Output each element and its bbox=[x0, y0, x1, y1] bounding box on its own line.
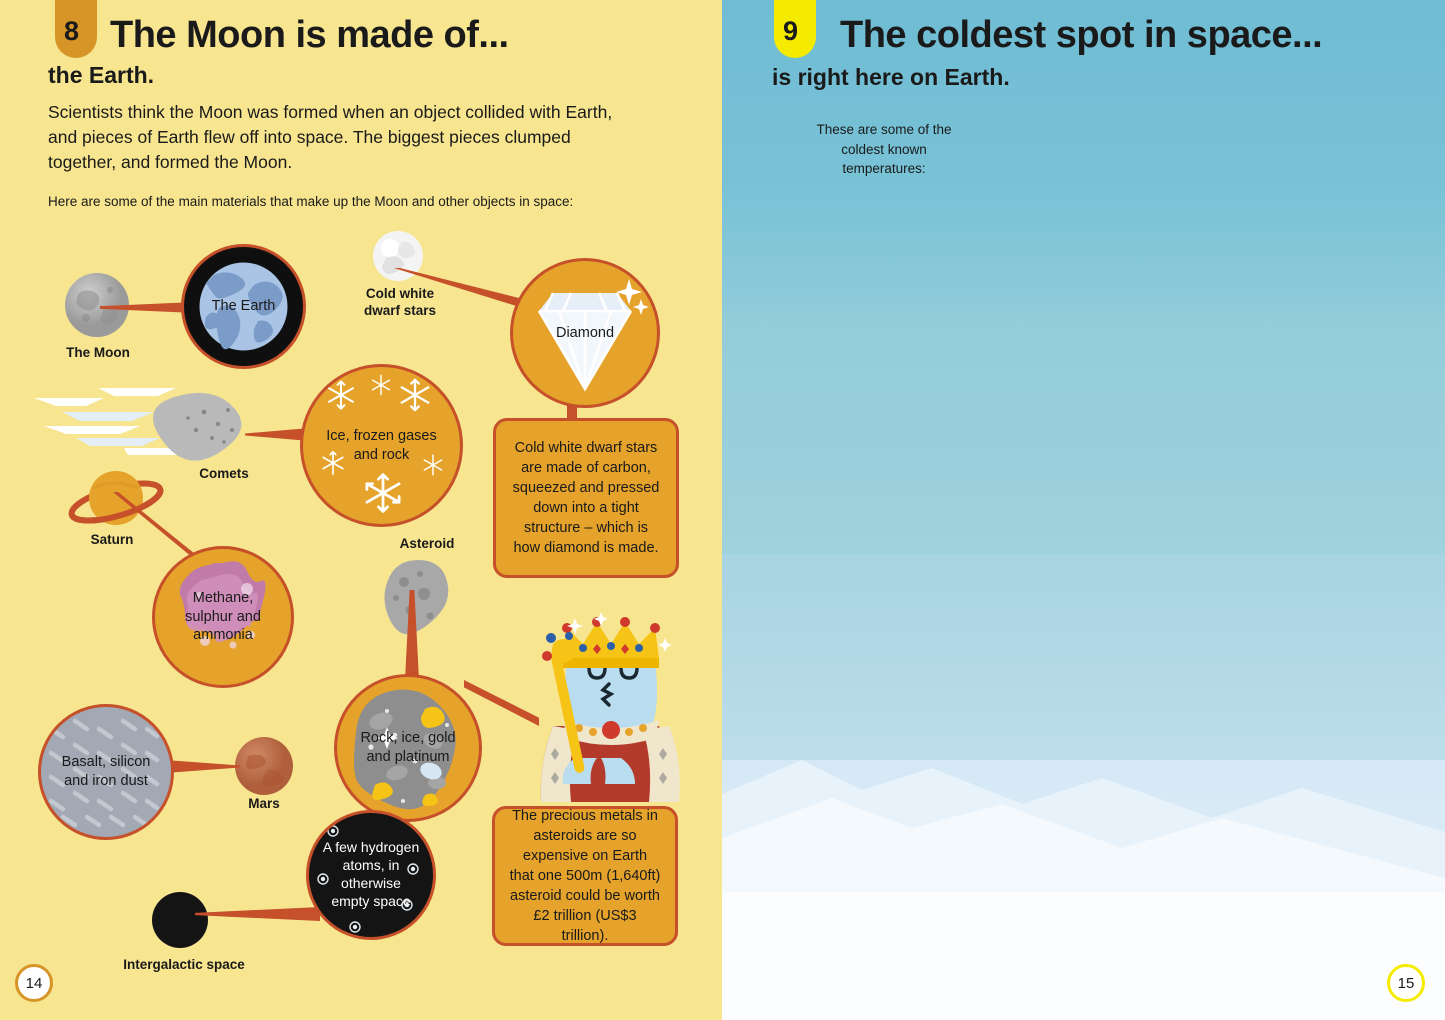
label-saturn: Saturn bbox=[62, 532, 162, 547]
page-number-left-value: 14 bbox=[26, 975, 43, 992]
earth-circle-label: The Earth bbox=[184, 297, 303, 316]
saturn-illustration bbox=[60, 458, 168, 540]
connector-intergalactic-hydrogen bbox=[195, 907, 320, 921]
label-asteroid: Asteroid bbox=[388, 536, 466, 551]
ice-circle-label: Ice, frozen gases and rock bbox=[303, 427, 460, 464]
rock-gold-circle: Rock, ice, gold and platinum bbox=[334, 674, 482, 822]
right-page-subhead: is right here on Earth. bbox=[772, 64, 1010, 91]
dwarf-carbon-textbox: Cold white dwarf stars are made of carbo… bbox=[493, 418, 679, 578]
moon-illustration bbox=[64, 272, 130, 338]
king-character-illustration bbox=[505, 608, 695, 808]
band-space bbox=[722, 312, 1445, 554]
connector-mars-basalt bbox=[165, 760, 240, 773]
hydrogen-circle: A few hydrogen atoms, in otherwise empty… bbox=[306, 810, 436, 940]
band-earth bbox=[722, 554, 1445, 760]
left-page-body: Scientists think the Moon was formed whe… bbox=[48, 100, 613, 175]
left-page-headline: The Moon is made of... bbox=[110, 14, 509, 57]
intergalactic-space-dot bbox=[152, 892, 208, 948]
snow-mountains-illustration bbox=[722, 742, 1445, 1020]
right-page: 9 The coldest spot in space... is right … bbox=[722, 0, 1445, 1020]
basalt-circle: Basalt, silicon and iron dust bbox=[38, 704, 174, 840]
left-page-intro: Here are some of the main materials that… bbox=[48, 194, 668, 209]
mars-illustration bbox=[234, 736, 294, 796]
diamond-circle-label: Diamond bbox=[513, 324, 657, 343]
left-page: 8 The Moon is made of... the Earth. Scie… bbox=[0, 0, 722, 1020]
label-mars: Mars bbox=[232, 796, 296, 811]
comet-illustration bbox=[28, 382, 260, 462]
right-page-headline: The coldest spot in space... bbox=[840, 14, 1322, 57]
page-number-right: 15 bbox=[1387, 964, 1425, 1002]
earth-circle: The Earth bbox=[181, 244, 306, 369]
label-the-moon: The Moon bbox=[48, 345, 148, 360]
rock-gold-circle-label: Rock, ice, gold and platinum bbox=[337, 729, 479, 766]
diamond-circle: Diamond bbox=[510, 258, 660, 408]
book-spread: 8 The Moon is made of... the Earth. Scie… bbox=[0, 0, 1445, 1020]
methane-circle-label: Methane, sulphur and ammonia bbox=[155, 589, 291, 645]
chapter-number-9: 9 bbox=[783, 16, 798, 47]
page-number-left: 14 bbox=[15, 964, 53, 1002]
ice-circle: Ice, frozen gases and rock bbox=[300, 364, 463, 527]
basalt-circle-label: Basalt, silicon and iron dust bbox=[41, 753, 171, 790]
right-page-intro: These are some of the coldest known temp… bbox=[804, 120, 964, 179]
label-intergalactic-space: Intergalactic space bbox=[118, 957, 250, 972]
chapter-number-tab-8: 8 bbox=[55, 0, 97, 58]
precious-metals-textbox: The precious metals in asteroids are so … bbox=[492, 806, 678, 946]
white-dwarf-star-illustration bbox=[370, 228, 426, 284]
chapter-number-8: 8 bbox=[64, 16, 79, 47]
page-number-right-value: 15 bbox=[1398, 975, 1415, 992]
hydrogen-circle-label: A few hydrogen atoms, in otherwise empty… bbox=[309, 839, 433, 911]
methane-circle: Methane, sulphur and ammonia bbox=[152, 546, 294, 688]
label-cold-white-dwarf-stars: Cold white dwarf stars bbox=[352, 286, 448, 320]
left-page-subhead: the Earth. bbox=[48, 62, 154, 89]
chapter-number-tab-9: 9 bbox=[774, 0, 816, 58]
label-comets: Comets bbox=[178, 466, 270, 481]
